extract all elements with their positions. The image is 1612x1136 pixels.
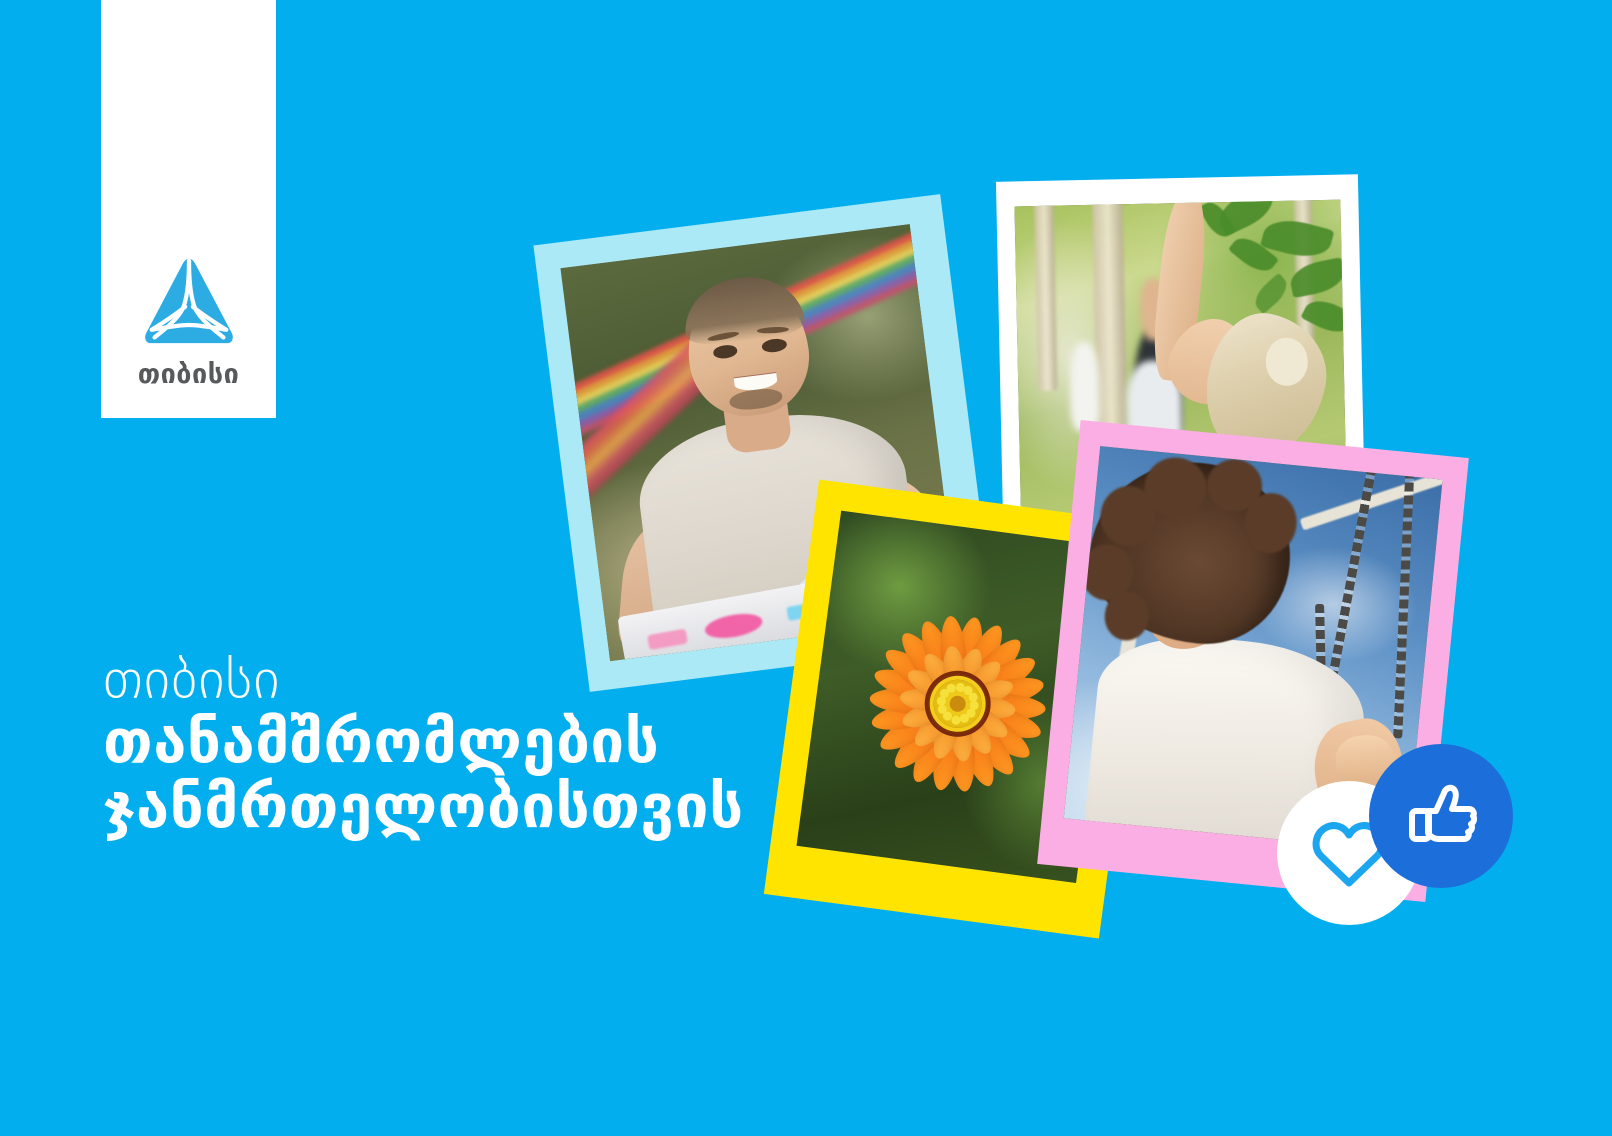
- tbc-triangle-logo-icon: [141, 257, 237, 347]
- like-badge[interactable]: [1369, 744, 1513, 888]
- flower-stamen: [950, 715, 960, 725]
- headline-line-2: თანამშრომლების: [103, 710, 863, 775]
- logo-panel: თიბისი: [101, 0, 276, 418]
- flower-stamen: [968, 692, 978, 702]
- headline-block: თიბისი თანამშრომლების ჯანმრთელობისთვის: [103, 650, 863, 840]
- flower-stamen: [936, 696, 946, 706]
- logo-wordmark: თიბისი: [138, 361, 240, 388]
- promotional-banner: თიბისი თიბისი თანამშრომლების ჯანმრთელობი…: [0, 0, 1612, 1136]
- thumbs-up-icon: [1403, 778, 1479, 854]
- headline-line-3: ჯანმრთელობისთვის: [103, 775, 863, 840]
- flower-bloom: [852, 598, 1063, 809]
- flower-stamen: [959, 714, 969, 724]
